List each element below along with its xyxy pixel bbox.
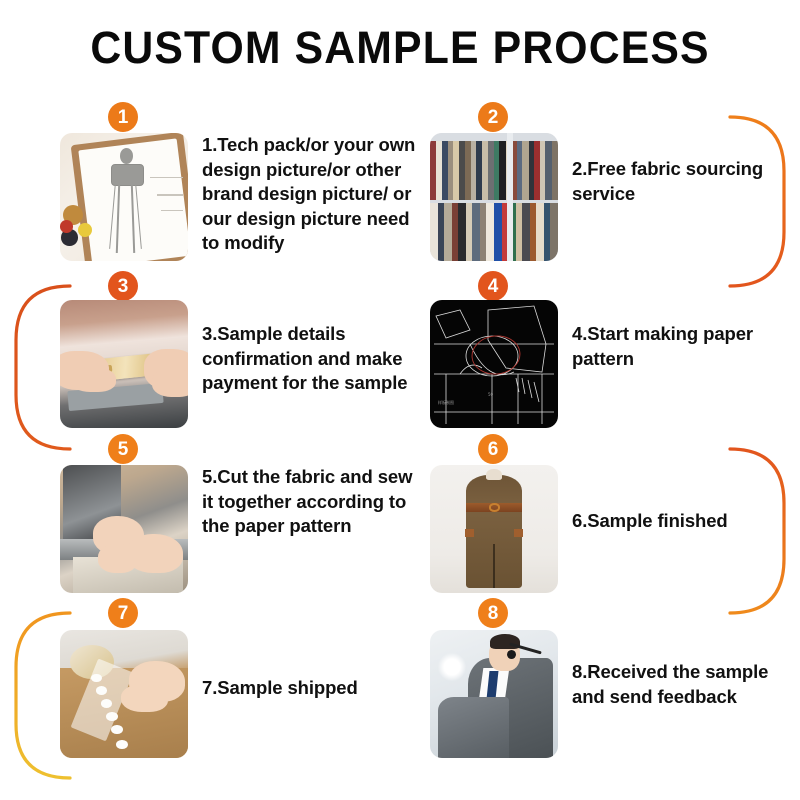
page-title: CUSTOM SAMPLE PROCESS — [20, 22, 780, 74]
step-badge-5-number: 5 — [118, 440, 129, 459]
finished-tweed-dress-photo — [430, 465, 558, 593]
step-badge-8: 8 — [478, 598, 508, 628]
step-item-7: 7.Sample shipped — [60, 630, 427, 758]
step-badge-7: 7 — [108, 598, 138, 628]
step-4-text: 4.Start making paper pattern — [572, 322, 777, 371]
step-8-text: 8.Received the sample and send feedback — [572, 660, 777, 709]
step-1-thumbnail — [60, 133, 188, 261]
step-badge-1-number: 1 — [118, 108, 129, 127]
fashion-sketch-on-clipboard-photo — [60, 133, 188, 261]
taping-shipping-box-photo — [60, 630, 188, 758]
step-badge-4: 4 — [478, 271, 508, 301]
step-7-text: 7.Sample shipped — [202, 676, 427, 701]
fabric-swatch-racks-photo — [430, 133, 558, 261]
step-6-thumbnail — [430, 465, 558, 593]
step-3-text: 3.Sample details confirmation and make p… — [202, 322, 427, 396]
step-badge-5: 5 — [108, 434, 138, 464]
step-badge-6: 6 — [478, 434, 508, 464]
step-7-thumbnail — [60, 630, 188, 758]
infographic-root: CUSTOM SAMPLE PROCESS — [0, 0, 800, 800]
step-badge-1: 1 — [108, 102, 138, 132]
step-badge-2: 2 — [478, 102, 508, 132]
step-item-1: 1.Tech pack/or your own design picture/o… — [60, 133, 427, 261]
step-badge-3: 3 — [108, 271, 138, 301]
sewing-machine-photo — [60, 465, 188, 593]
step-2-text: 2.Free fabric sourcing service — [572, 157, 777, 206]
step-3-thumbnail — [60, 300, 188, 428]
step-item-3: 3.Sample details confirmation and make p… — [60, 300, 427, 428]
step-badge-7-number: 7 — [118, 604, 129, 623]
step-2-thumbnail — [430, 133, 558, 261]
call-centre-agent-photo — [430, 630, 558, 758]
step-item-8: 8.Received the sample and send feedback — [430, 630, 777, 758]
cad-paper-pattern-photo: 样板制图 50 — [430, 300, 558, 428]
step-badge-3-number: 3 — [118, 277, 129, 296]
step-item-4: 样板制图 50 4.Start making paper pattern — [430, 300, 777, 428]
step-5-thumbnail — [60, 465, 188, 593]
svg-text:样板制图: 样板制图 — [438, 399, 454, 405]
credit-card-payment-photo — [60, 300, 188, 428]
step-badge-4-number: 4 — [488, 277, 499, 296]
step-badge-6-number: 6 — [488, 440, 499, 459]
step-1-text: 1.Tech pack/or your own design picture/o… — [202, 133, 427, 256]
step-4-thumbnail: 样板制图 50 — [430, 300, 558, 428]
svg-text:50: 50 — [488, 392, 494, 397]
step-6-text: 6.Sample finished — [572, 509, 777, 534]
step-5-text: 5.Cut the fabric and sew it together acc… — [202, 465, 427, 539]
step-item-5: 5.Cut the fabric and sew it together acc… — [60, 465, 427, 593]
step-item-2: 2.Free fabric sourcing service — [430, 133, 777, 261]
step-badge-2-number: 2 — [488, 108, 499, 127]
step-8-thumbnail — [430, 630, 558, 758]
step-badge-8-number: 8 — [488, 604, 499, 623]
step-item-6: 6.Sample finished — [430, 465, 777, 593]
